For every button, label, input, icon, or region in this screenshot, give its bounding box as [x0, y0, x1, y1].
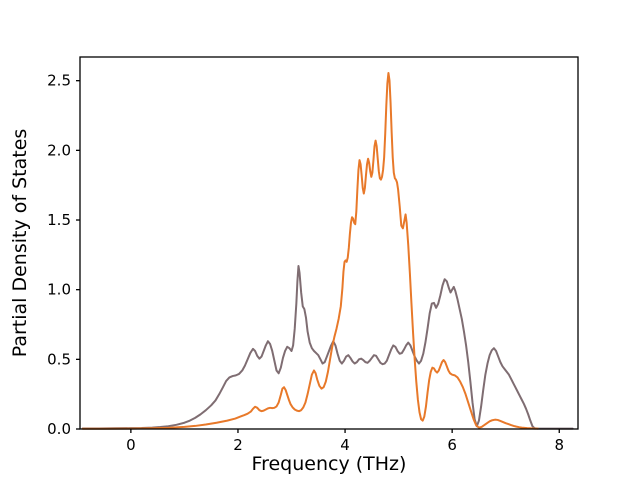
x-axis-title: Frequency (THz): [252, 453, 407, 475]
y-tick-label: 1.0: [47, 281, 71, 299]
x-tick-label: 8: [554, 436, 564, 454]
y-axis-title: Partial Density of States: [9, 129, 31, 358]
partial-density-of-states-plot: 02468 0.00.51.01.52.02.5 Frequency (THz)…: [0, 0, 640, 480]
x-tick-label: 2: [233, 436, 243, 454]
x-tick-label: 6: [447, 436, 457, 454]
y-tick-label: 2.5: [47, 72, 71, 90]
y-tick-label: 0.0: [47, 420, 71, 438]
y-tick-label: 0.5: [47, 350, 71, 368]
x-tick-label: 4: [340, 436, 350, 454]
x-tick-label: 0: [126, 436, 136, 454]
plot-background: [0, 0, 640, 480]
y-tick-label: 1.5: [47, 211, 71, 229]
y-tick-label: 2.0: [47, 141, 71, 159]
figure-canvas: 02468 0.00.51.01.52.02.5 Frequency (THz)…: [0, 0, 640, 480]
